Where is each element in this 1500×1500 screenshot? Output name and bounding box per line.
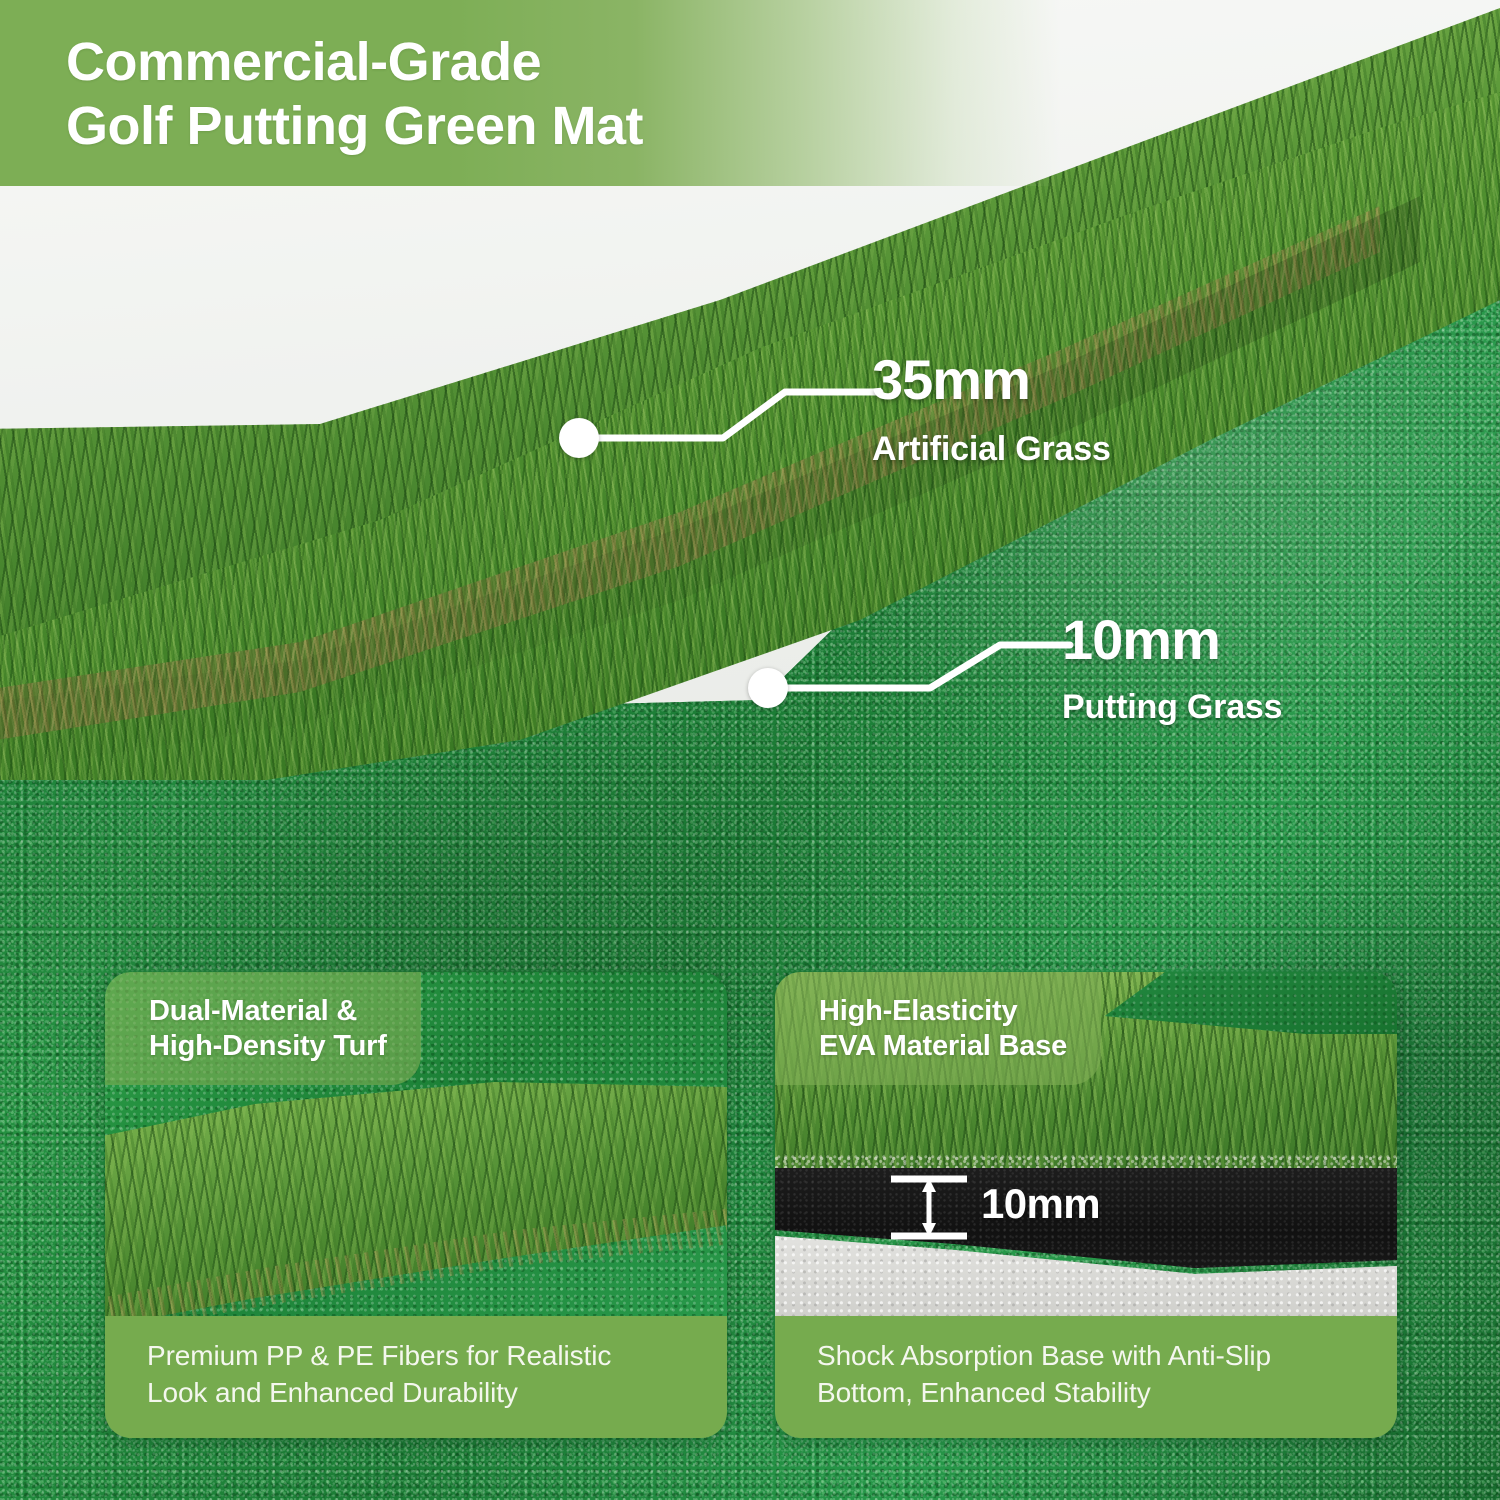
card-caption-eva-base: Shock Absorption Base with Anti-Slip Bot… bbox=[775, 1316, 1397, 1438]
product-infographic: Commercial-Grade Golf Putting Green Mat … bbox=[0, 0, 1500, 1500]
feature-card-dual-material: Dual-Material & High-Density Turf Premiu… bbox=[105, 972, 727, 1438]
card-caption-dual-material: Premium PP & PE Fibers for Realistic Loo… bbox=[105, 1316, 727, 1438]
callout-10mm-dot bbox=[748, 668, 788, 708]
feature-card-eva-base: 10mm High-Elasticity EVA Material Base S… bbox=[775, 972, 1397, 1438]
callout-10mm-value: 10mm bbox=[1062, 612, 1220, 668]
callout-10mm-label: Putting Grass bbox=[1062, 690, 1282, 724]
callout-10mm-leader-line bbox=[0, 0, 1500, 900]
card-tab-label-eva-base: High-Elasticity EVA Material Base bbox=[775, 972, 1101, 1085]
eva-thickness-label: 10mm bbox=[981, 1183, 1100, 1225]
card-tab-label-dual-material: Dual-Material & High-Density Turf bbox=[105, 972, 421, 1085]
